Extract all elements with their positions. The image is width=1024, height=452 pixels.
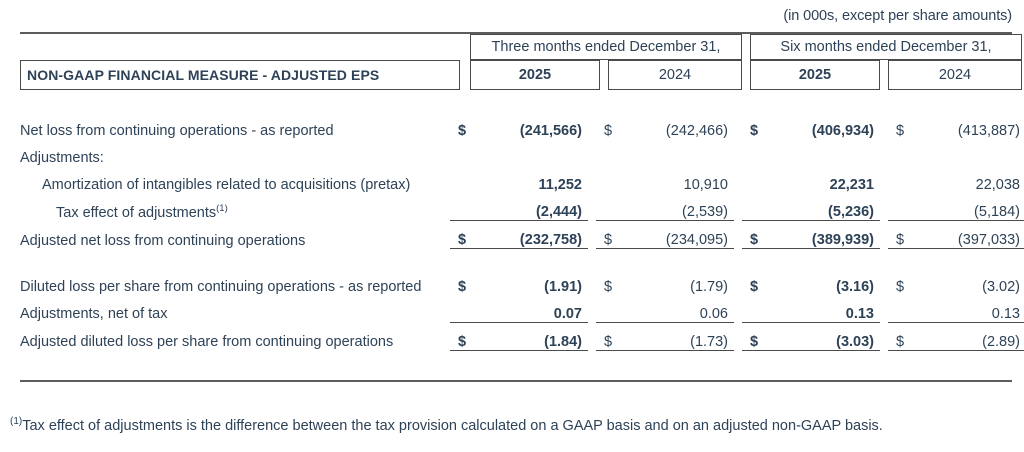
row-value-3m-2024: 10,910 xyxy=(618,166,734,193)
column-group-three-months-label: Three months ended December 31, xyxy=(492,39,721,55)
row-label: Diluted loss per share from continuing o… xyxy=(20,249,450,295)
column-header-3m-2024: 2024 xyxy=(608,60,742,90)
column-header-3m-2024-label: 2024 xyxy=(659,67,691,83)
column-gap xyxy=(880,221,888,249)
column-gap xyxy=(734,249,742,295)
row-value-6m-2025: (406,934) xyxy=(764,112,880,139)
row-currency-6m-2024: $ xyxy=(888,112,910,139)
row-currency-3m-2024: $ xyxy=(596,221,618,249)
footnote-marker-icon: (1) xyxy=(10,416,22,427)
row-value-6m-2025: 22,231 xyxy=(764,166,880,193)
row-label: Adjusted diluted loss per share from con… xyxy=(20,322,450,350)
row-currency-6m-2025 xyxy=(742,295,764,323)
column-gap xyxy=(588,249,596,295)
row-value-3m-2025: (232,758) xyxy=(472,221,588,249)
row-label: Adjustments: xyxy=(20,139,450,166)
table-row: Diluted loss per share from continuing o… xyxy=(20,249,1024,295)
row-value-6m-2025: (5,236) xyxy=(764,193,880,221)
row-value-3m-2025: 0.07 xyxy=(472,295,588,323)
column-group-six-months-label: Six months ended December 31, xyxy=(780,39,991,55)
table-row: Adjustments: xyxy=(20,139,1024,166)
row-currency-3m-2025 xyxy=(450,193,472,221)
row-value-3m-2024 xyxy=(618,139,734,166)
row-value-3m-2025: (241,566) xyxy=(472,112,588,139)
row-currency-3m-2025: $ xyxy=(450,112,472,139)
row-value-6m-2025: (3.16) xyxy=(764,249,880,295)
row-value-3m-2025: (1.91) xyxy=(472,249,588,295)
column-header-3m-2025-label: 2025 xyxy=(519,67,551,83)
column-gap xyxy=(880,295,888,323)
row-currency-3m-2024: $ xyxy=(596,112,618,139)
row-label: Adjustments, net of tax xyxy=(20,295,450,323)
column-gap xyxy=(588,221,596,249)
table-bottom-rule xyxy=(20,380,1012,382)
row-value-3m-2024: (2,539) xyxy=(618,193,734,221)
table-title-box: NON-GAAP FINANCIAL MEASURE - ADJUSTED EP… xyxy=(20,60,460,90)
table-row: Net loss from continuing operations - as… xyxy=(20,112,1024,139)
row-value-6m-2024: (5,184) xyxy=(910,193,1024,221)
row-currency-3m-2025 xyxy=(450,295,472,323)
row-currency-3m-2025: $ xyxy=(450,249,472,295)
row-currency-6m-2025 xyxy=(742,139,764,166)
row-value-3m-2024: (1.79) xyxy=(618,249,734,295)
row-value-3m-2024: (234,095) xyxy=(618,221,734,249)
row-currency-3m-2025 xyxy=(450,166,472,193)
row-currency-3m-2025 xyxy=(450,139,472,166)
column-header-6m-2024: 2024 xyxy=(888,60,1022,90)
row-value-6m-2024: (2.89) xyxy=(910,322,1024,350)
table-header: NON-GAAP FINANCIAL MEASURE - ADJUSTED EP… xyxy=(20,34,1014,92)
row-value-6m-2024: (3.02) xyxy=(910,249,1024,295)
financial-table-page: (in 000s, except per share amounts) NON-… xyxy=(0,0,1024,452)
column-gap xyxy=(880,322,888,350)
row-currency-6m-2024: $ xyxy=(888,322,910,350)
row-currency-6m-2025 xyxy=(742,193,764,221)
row-value-3m-2024: (242,466) xyxy=(618,112,734,139)
row-value-3m-2024: (1.73) xyxy=(618,322,734,350)
footnote: (1)Tax effect of adjustments is the diff… xyxy=(10,418,883,434)
row-value-3m-2025: (1.84) xyxy=(472,322,588,350)
row-value-6m-2024: (397,033) xyxy=(910,221,1024,249)
column-gap xyxy=(588,112,596,139)
row-value-3m-2025: 11,252 xyxy=(472,166,588,193)
column-gap xyxy=(734,166,742,193)
column-gap xyxy=(588,166,596,193)
row-value-6m-2025: (3.03) xyxy=(764,322,880,350)
column-gap xyxy=(880,249,888,295)
column-header-6m-2025: 2025 xyxy=(750,60,880,90)
row-currency-3m-2024 xyxy=(596,295,618,323)
column-group-six-months: Six months ended December 31, xyxy=(750,34,1022,60)
row-currency-3m-2024 xyxy=(596,139,618,166)
row-currency-3m-2024 xyxy=(596,193,618,221)
table-row: Tax effect of adjustments(1) (2,444) (2,… xyxy=(20,193,1024,221)
column-group-three-months: Three months ended December 31, xyxy=(470,34,742,60)
row-value-6m-2025: (389,939) xyxy=(764,221,880,249)
column-gap xyxy=(588,295,596,323)
column-gap xyxy=(880,139,888,166)
row-value-6m-2024: 22,038 xyxy=(910,166,1024,193)
column-header-6m-2024-label: 2024 xyxy=(939,67,971,83)
row-currency-6m-2025: $ xyxy=(742,112,764,139)
column-header-6m-2025-label: 2025 xyxy=(799,67,831,83)
table-row: Adjustments, net of tax 0.07 0.06 0.13 0… xyxy=(20,295,1024,323)
column-gap xyxy=(588,193,596,221)
footnote-text: Tax effect of adjustments is the differe… xyxy=(22,418,883,434)
row-label: Adjusted net loss from continuing operat… xyxy=(20,221,450,249)
row-currency-6m-2024: $ xyxy=(888,221,910,249)
row-currency-6m-2024 xyxy=(888,139,910,166)
row-currency-6m-2025 xyxy=(742,166,764,193)
column-gap xyxy=(734,322,742,350)
row-value-6m-2024: 0.13 xyxy=(910,295,1024,323)
column-gap xyxy=(880,112,888,139)
units-note: (in 000s, except per share amounts) xyxy=(783,8,1012,24)
row-label: Tax effect of adjustments(1) xyxy=(20,193,450,221)
column-header-3m-2025: 2025 xyxy=(470,60,600,90)
column-gap xyxy=(880,193,888,221)
page-title: NON-GAAP FINANCIAL MEASURE - ADJUSTED EP… xyxy=(27,67,379,83)
column-gap xyxy=(880,166,888,193)
row-value-3m-2025: (2,444) xyxy=(472,193,588,221)
row-currency-6m-2025: $ xyxy=(742,249,764,295)
column-gap xyxy=(734,139,742,166)
row-currency-6m-2024 xyxy=(888,295,910,323)
row-value-3m-2024: 0.06 xyxy=(618,295,734,323)
column-gap xyxy=(588,322,596,350)
row-label-text: Tax effect of adjustments xyxy=(56,205,216,221)
column-gap xyxy=(734,112,742,139)
row-currency-6m-2025: $ xyxy=(742,221,764,249)
row-currency-6m-2025: $ xyxy=(742,322,764,350)
row-currency-3m-2024: $ xyxy=(596,322,618,350)
row-value-3m-2025 xyxy=(472,139,588,166)
column-gap xyxy=(588,139,596,166)
row-currency-3m-2025: $ xyxy=(450,322,472,350)
row-label: Net loss from continuing operations - as… xyxy=(20,112,450,139)
column-gap xyxy=(734,221,742,249)
row-value-6m-2025: 0.13 xyxy=(764,295,880,323)
row-currency-3m-2024 xyxy=(596,166,618,193)
row-currency-3m-2025: $ xyxy=(450,221,472,249)
row-value-6m-2025 xyxy=(764,139,880,166)
table-row-subtotal: Adjusted net loss from continuing operat… xyxy=(20,221,1024,249)
financial-data-table: Net loss from continuing operations - as… xyxy=(20,112,1024,351)
row-currency-3m-2024: $ xyxy=(596,249,618,295)
table-row-total: Adjusted diluted loss per share from con… xyxy=(20,322,1024,350)
row-value-6m-2024 xyxy=(910,139,1024,166)
row-currency-6m-2024 xyxy=(888,193,910,221)
row-label: Amortization of intangibles related to a… xyxy=(20,166,450,193)
column-gap xyxy=(734,295,742,323)
column-gap xyxy=(734,193,742,221)
table-row: Amortization of intangibles related to a… xyxy=(20,166,1024,193)
row-currency-6m-2024 xyxy=(888,166,910,193)
footnote-marker: (1) xyxy=(216,203,228,214)
row-value-6m-2024: (413,887) xyxy=(910,112,1024,139)
row-currency-6m-2024: $ xyxy=(888,249,910,295)
